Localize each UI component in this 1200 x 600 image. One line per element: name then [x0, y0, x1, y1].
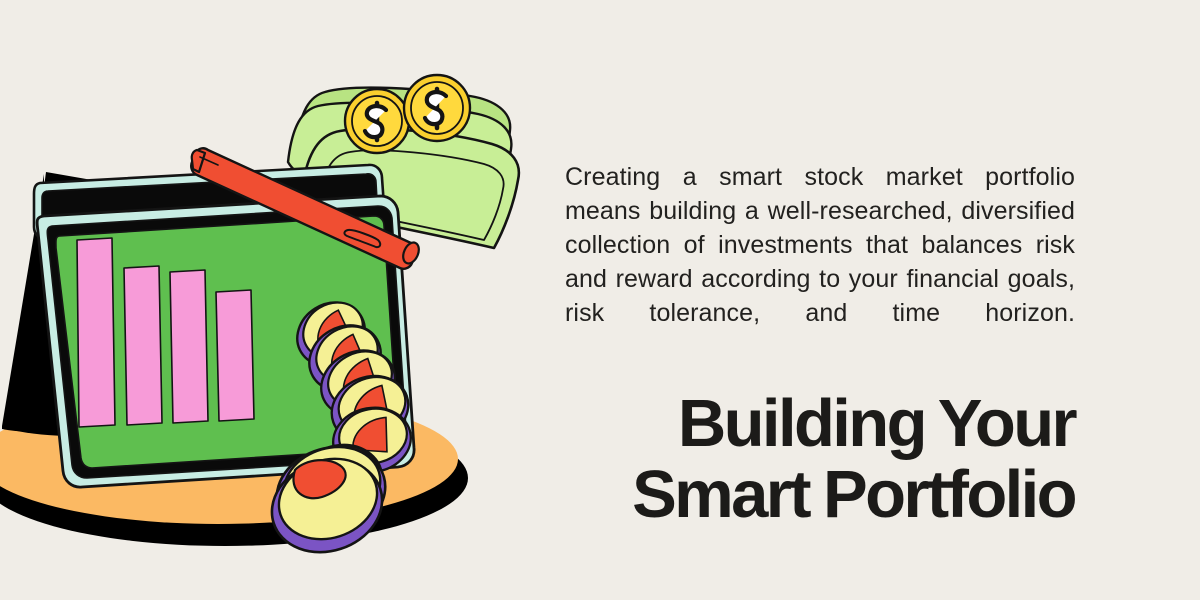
page-title: Building Your Smart Portfolio	[560, 388, 1075, 530]
poster-canvas: $	[0, 0, 1200, 600]
gold-coin-right	[404, 75, 470, 141]
headline-line-2: Smart Portfolio	[560, 459, 1075, 530]
body-paragraph: Creating a smart stock market portfolio …	[565, 160, 1075, 364]
text-column: Creating a smart stock market portfolio …	[565, 0, 1077, 600]
headline-line-1: Building Your	[560, 388, 1075, 459]
stock-market-portfolio-illustration: $	[0, 0, 540, 600]
gold-coin-left	[345, 89, 409, 153]
